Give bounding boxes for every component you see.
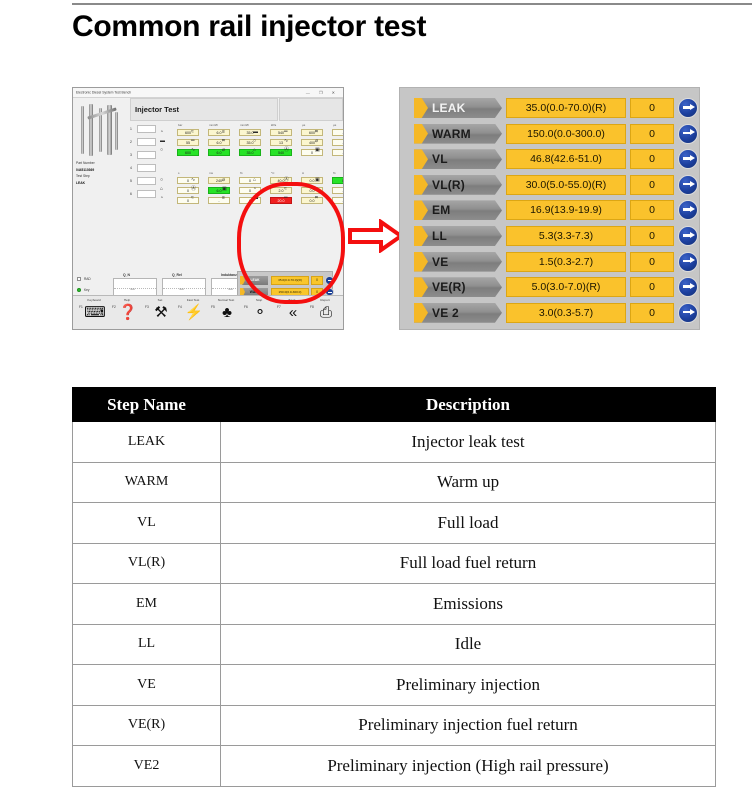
step-count-value[interactable]: 0 xyxy=(630,303,674,323)
measurement-unit: A xyxy=(302,171,304,175)
measurement-cell[interactable]: µs⌗⌀▣--- xyxy=(314,123,344,161)
measurement-value: - xyxy=(332,129,344,136)
chevron-right-icon xyxy=(414,303,428,323)
chevron-right-icon xyxy=(414,252,428,272)
page-title: Common rail injector test xyxy=(72,10,712,44)
cell-step-name: VL xyxy=(73,503,221,544)
step-row[interactable]: LEAK35.0(0.0-70.0)(R)0 xyxy=(410,98,691,118)
step-name-tab[interactable]: VL xyxy=(414,149,502,169)
cell-description: Emissions xyxy=(221,584,716,625)
app-header-title: Injector Test xyxy=(135,105,179,114)
function-key-number: F4 xyxy=(178,305,182,309)
cell-step-name: VL(R) xyxy=(73,543,221,584)
column-header-step-name: Step Name xyxy=(73,388,221,422)
step-count-value[interactable]: 0 xyxy=(630,149,674,169)
step-list-panel: LEAK35.0(0.0-70.0)(R)0WARM150.0(0.0-300.… xyxy=(399,87,700,330)
graph-caption: Induktanz xyxy=(221,273,237,277)
step-name-tab[interactable]: VL(R) xyxy=(414,175,502,195)
cell-description: Idle xyxy=(221,624,716,665)
step-name-tab[interactable]: LEAK xyxy=(414,98,502,118)
function-key-button[interactable]: Fast TestF4⚡ xyxy=(178,298,208,327)
step-count-value[interactable]: 0 xyxy=(630,226,674,246)
numbered-input-label: 2 xyxy=(130,140,132,144)
numbered-input[interactable]: 2 xyxy=(130,137,158,150)
test-step-value: LEAK xyxy=(76,180,126,187)
table-row: VE2Preliminary injection (High rail pres… xyxy=(73,746,716,787)
step-name-label: VE xyxy=(432,252,448,272)
app-header-bar-right xyxy=(279,98,343,121)
column-header-description: Description xyxy=(221,388,716,422)
arrow-right-circle-icon[interactable] xyxy=(678,200,698,220)
measurement-unit: bar xyxy=(178,123,182,127)
numbered-input-field[interactable] xyxy=(137,138,156,146)
cell-step-name: VE xyxy=(73,665,221,706)
function-key-caption: Stop xyxy=(244,298,274,302)
chevron-right-icon xyxy=(414,175,428,195)
step-name-tab[interactable]: VE xyxy=(414,252,502,272)
step-name-label: LEAK xyxy=(432,98,465,118)
numbered-input-label: 3 xyxy=(130,153,132,157)
back-icon: « xyxy=(282,303,304,323)
measurement-unit: mm3/h xyxy=(240,123,249,127)
flow-icon: ≡⌗⌀ xyxy=(221,125,238,159)
measurement-unit: % xyxy=(333,171,336,175)
tools-icon: ⚒ xyxy=(150,303,172,323)
step-description-table: Step Name Description LEAKInjector leak … xyxy=(72,387,716,787)
window-controls[interactable]: — ❐ ✕ xyxy=(306,90,339,95)
measurement-value: 0 xyxy=(332,177,344,184)
step-row[interactable]: VE 23.0(0.3-5.7)0 xyxy=(410,303,691,323)
chevron-right-icon xyxy=(414,149,428,169)
mini-step-row[interactable]: LEAK35.0(0.0-70.0)(R)0 xyxy=(240,275,330,287)
stop-icon: ⚬ xyxy=(249,303,271,323)
step-name-tab[interactable]: WARM xyxy=(414,124,502,144)
measurement-value: - xyxy=(332,197,344,204)
table-row: VEPreliminary injection xyxy=(73,665,716,706)
step-name-label: VL(R) xyxy=(432,175,465,195)
table-row: LLIdle xyxy=(73,624,716,665)
function-key-number: F2 xyxy=(112,305,116,309)
cell-description: Preliminary injection (High rail pressur… xyxy=(221,746,716,787)
measurement-unit: °C xyxy=(271,171,274,175)
measurement-cell[interactable]: %▣≡⌗0-- xyxy=(314,171,344,209)
right-arrow-icon xyxy=(348,219,403,253)
step-name-label: VL xyxy=(432,149,448,169)
function-key-caption: Fast Test xyxy=(178,298,208,302)
mini-step-name[interactable]: LEAK xyxy=(242,276,268,285)
graph-caption: Q_N xyxy=(123,273,130,277)
cell-description: Injector leak test xyxy=(221,422,716,463)
step-name-tab[interactable]: EM xyxy=(414,200,502,220)
step-name-tab[interactable]: VE 2 xyxy=(414,303,502,323)
numbered-input-field[interactable] xyxy=(137,151,156,159)
function-key-number: F6 xyxy=(244,305,248,309)
cell-description: Preliminary injection xyxy=(221,665,716,706)
function-key-caption: Normal Test xyxy=(211,298,241,302)
step-row[interactable]: WARM150.0(0.0-300.0)0 xyxy=(410,124,691,144)
app-titlebar-text: Electronic Diesel System Test Bench xyxy=(76,90,131,95)
chevron-right-icon xyxy=(414,98,428,118)
step-count-value[interactable]: 0 xyxy=(630,252,674,272)
function-key-number: F7 xyxy=(277,305,281,309)
clock-icon: ○⌂◔ xyxy=(159,173,176,207)
numbered-input[interactable]: 5 xyxy=(130,176,158,189)
step-range-value[interactable]: 16.9(13.9-19.9) xyxy=(506,200,626,220)
arrow-right-circle-icon[interactable] xyxy=(678,175,698,195)
table-row: VLFull load xyxy=(73,503,716,544)
numbered-input-field[interactable] xyxy=(137,190,156,198)
function-key-button[interactable]: StopF6⚬ xyxy=(244,298,274,327)
injector-icon: ▬○⌂ xyxy=(252,125,269,159)
step-count-value[interactable]: 0 xyxy=(630,98,674,118)
pulse-icon: ≈═∿ xyxy=(190,125,207,159)
step-row[interactable]: VL46.8(42.6-51.0)0 xyxy=(410,149,691,169)
measurement-unit: mm3/h xyxy=(209,123,218,127)
gauge-icon: ◔▬○ xyxy=(159,125,176,159)
step-row[interactable]: EM16.9(13.9-19.9)0 xyxy=(410,200,691,220)
arrow-right-circle-icon[interactable] xyxy=(678,98,698,118)
numbered-input-label: 6 xyxy=(130,192,132,196)
step-range-value[interactable]: 5.0(3.0-7.0)(R) xyxy=(506,277,626,297)
function-key-button[interactable]: BackF7« xyxy=(277,298,307,327)
numbered-input[interactable]: 4 xyxy=(130,163,158,176)
temp-icon: ⌂◔▬ xyxy=(252,173,269,207)
step-row[interactable]: LL5.3(3.3-7.3)0 xyxy=(410,226,691,246)
step-range-value[interactable]: 30.0(5.0-55.0)(R) xyxy=(506,175,626,195)
step-name-label: WARM xyxy=(432,124,471,144)
wave-icon: ∿Ⓐ≈ xyxy=(190,173,207,207)
table-row: LEAKInjector leak test xyxy=(73,422,716,463)
numbered-input-label: 1 xyxy=(130,127,132,131)
step-name-label: LL xyxy=(432,226,447,246)
arrow-right-circle-icon[interactable] xyxy=(678,226,698,246)
function-key-button[interactable]: HelpF2❓ xyxy=(112,298,142,327)
header-rule xyxy=(72,3,752,5)
measurement-value: - xyxy=(332,149,344,156)
step-count-value[interactable]: 0 xyxy=(630,200,674,220)
step-row[interactable]: VE1.5(0.3-2.7)0 xyxy=(410,252,691,272)
step-range-value[interactable]: 3.0(0.3-5.7) xyxy=(506,303,626,323)
injector-photo xyxy=(77,104,125,156)
injector-meta: Part Number 0445110369 Test Step LEAK xyxy=(76,160,126,186)
bip-icon: ═∿Ⓐ xyxy=(283,125,300,159)
table-row: EMEmissions xyxy=(73,584,716,625)
chevron-right-icon xyxy=(414,277,428,297)
numbered-input-label: 4 xyxy=(130,166,132,170)
measurement-unit: ms xyxy=(209,171,213,175)
numbered-input-label: 5 xyxy=(130,179,132,183)
measurement-value: - xyxy=(332,139,344,146)
chevron-right-icon xyxy=(414,124,428,144)
function-key-caption: Keyboard xyxy=(79,298,109,302)
step-range-value[interactable]: 5.3(3.3-7.3) xyxy=(506,226,626,246)
function-key-button[interactable]: ReportF8⎙ xyxy=(310,298,340,327)
table-row: VL(R)Full load fuel return xyxy=(73,543,716,584)
step-range-value[interactable]: 35.0(0.0-70.0)(R) xyxy=(506,98,626,118)
function-key-number: F8 xyxy=(310,305,314,309)
arrow-right-circle-icon[interactable] xyxy=(678,124,698,144)
graph-caption: Q_Rel xyxy=(172,273,182,277)
measurement-value: - xyxy=(332,187,344,194)
function-key-bar: KeyboardF1⌨HelpF2❓SetF3⚒Fast TestF4⚡Norm… xyxy=(73,295,343,329)
measurement-unit: s xyxy=(178,171,180,175)
step-name-label: VE 2 xyxy=(432,303,459,323)
cell-description: Warm up xyxy=(221,462,716,503)
cell-step-name: EM xyxy=(73,584,221,625)
cell-step-name: LL xyxy=(73,624,221,665)
keyboard-icon: ⌨ xyxy=(84,303,106,323)
numbered-input-field[interactable] xyxy=(137,177,156,185)
app-header-bar: Injector Test xyxy=(130,98,278,121)
measurement-unit: µs xyxy=(333,123,336,127)
numbered-input[interactable]: 3 xyxy=(130,150,158,163)
cell-description: Preliminary injection fuel return xyxy=(221,705,716,746)
numbered-input[interactable]: 6 xyxy=(130,189,158,202)
function-key-caption: Set xyxy=(145,298,175,302)
table-row: WARMWarm up xyxy=(73,462,716,503)
cell-step-name: VE(R) xyxy=(73,705,221,746)
cell-description: Full load xyxy=(221,503,716,544)
step-range-value[interactable]: 1.5(0.3-2.7) xyxy=(506,252,626,272)
function-key-number: F1 xyxy=(79,305,83,309)
arrow-right-circle-icon[interactable] xyxy=(678,303,698,323)
help-icon: ❓ xyxy=(117,303,139,323)
app-titlebar: Electronic Diesel System Test Bench — ❐ … xyxy=(73,88,343,98)
numbered-input-column: 123456 xyxy=(130,124,158,202)
function-key-caption: Help xyxy=(112,298,142,302)
step-row[interactable]: VL(R)30.0(5.0-55.0)(R)0 xyxy=(410,175,691,195)
step-name-label: VE(R) xyxy=(432,277,466,297)
measurement-unit: % xyxy=(240,171,243,175)
step-count-value[interactable]: 0 xyxy=(630,175,674,195)
table-row: VE(R)Preliminary injection fuel return xyxy=(73,705,716,746)
lightning-icon: ⚡ xyxy=(183,303,205,323)
cell-description: Full load fuel return xyxy=(221,543,716,584)
arrow-right-circle-icon[interactable] xyxy=(678,277,698,297)
mini-step-range: 35.0(0.0-70.0)(R) xyxy=(271,276,309,285)
step-range-value[interactable]: 150.0(0.0-300.0) xyxy=(506,124,626,144)
mini-step-label: LEAK xyxy=(251,278,260,282)
measurement-unit: kPa xyxy=(271,123,276,127)
printer-icon: ⎙ xyxy=(315,303,337,323)
mini-step-count: 0 xyxy=(311,276,323,285)
numbered-input[interactable]: 1 xyxy=(130,124,158,137)
function-key-number: F3 xyxy=(145,305,149,309)
function-key-caption: Back xyxy=(277,298,307,302)
step-range-value[interactable]: 46.8(42.6-51.0) xyxy=(506,149,626,169)
arrow-right-circle-icon[interactable] xyxy=(678,252,698,272)
step-name-tab[interactable]: VE(R) xyxy=(414,277,502,297)
mini-step-label: WARM xyxy=(250,290,260,294)
step-row[interactable]: VE(R)5.0(3.0-7.0)(R)0 xyxy=(410,277,691,297)
table-header-row: Step Name Description xyxy=(73,388,716,422)
arrow-right-circle-icon[interactable] xyxy=(678,149,698,169)
cell-step-name: VE2 xyxy=(73,746,221,787)
cell-step-name: WARM xyxy=(73,462,221,503)
measurement-unit: µs xyxy=(302,123,305,127)
cell-step-name: LEAK xyxy=(73,422,221,463)
step-count-value[interactable]: 0 xyxy=(630,277,674,297)
injector-test-app-screenshot: Electronic Diesel System Test Bench — ❐ … xyxy=(72,87,344,330)
function-key-button[interactable]: SetF3⚒ xyxy=(145,298,175,327)
chevron-right-icon xyxy=(414,200,428,220)
function-key-number: F5 xyxy=(211,305,215,309)
pressure-icon: Ⓐ≈═ xyxy=(283,173,300,207)
pig-icon: ♣ xyxy=(216,303,238,323)
step-name-tab[interactable]: LL xyxy=(414,226,502,246)
function-key-button[interactable]: KeyboardF1⌨ xyxy=(79,298,109,327)
function-key-button[interactable]: Normal TestF5♣ xyxy=(211,298,241,327)
percent-icon: ⌀▣≡ xyxy=(221,173,238,207)
coil-icon: ⌗⌀▣ xyxy=(314,125,331,159)
function-key-caption: Report xyxy=(310,298,340,302)
step-name-label: EM xyxy=(432,200,450,220)
chevron-right-icon xyxy=(240,276,245,285)
step-count-value[interactable]: 0 xyxy=(630,124,674,144)
chevron-right-icon xyxy=(414,226,428,246)
numbered-input-field[interactable] xyxy=(137,164,156,172)
numbered-input-field[interactable] xyxy=(137,125,156,133)
fuel-icon: ▣≡⌗ xyxy=(314,173,331,207)
arrow-right-circle-icon[interactable] xyxy=(325,276,334,285)
